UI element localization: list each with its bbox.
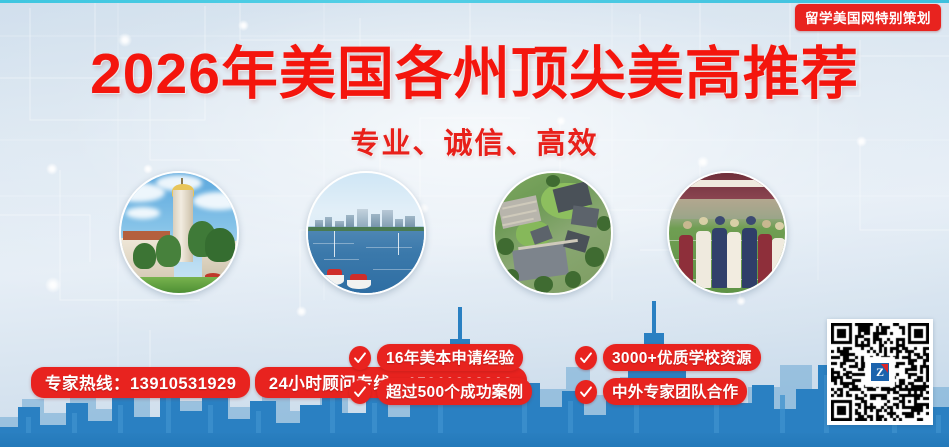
- checkmark-icon: [575, 346, 597, 370]
- feature-item: 3000+优质学校资源: [575, 344, 761, 371]
- photo-aerial-campus-view[interactable]: [493, 171, 613, 295]
- photo-gallery: [0, 171, 949, 297]
- top-accent-rule: [0, 0, 949, 3]
- checkmark-icon: [575, 380, 597, 404]
- bottom-info-row: 专家热线：13910531929 24小时顾问专线：15011066813 16…: [0, 327, 949, 437]
- feature-label: 中外专家团队合作: [603, 378, 747, 405]
- special-feature-badge: 留学美国网特别策划: [795, 4, 941, 31]
- feature-item: 中外专家团队合作: [575, 378, 761, 405]
- feature-column-a: 16年美本申请经验 超过500个成功案例: [349, 344, 532, 405]
- feature-label: 超过500个成功案例: [377, 378, 532, 405]
- qr-center-logo: Z: [868, 360, 892, 384]
- logo-letter: Z: [876, 366, 884, 378]
- page-title: 2026年美国各州顶尖美高推荐: [0, 46, 949, 103]
- checkmark-icon: [349, 380, 371, 404]
- feature-label: 3000+优质学校资源: [603, 344, 761, 371]
- promo-banner: 留学美国网特别策划 2026年美国各州顶尖美高推荐 专业、诚信、高效: [0, 0, 949, 447]
- qr-code[interactable]: Z: [827, 319, 933, 425]
- feature-label: 16年美本申请经验: [377, 344, 523, 371]
- feature-item: 超过500个成功案例: [349, 378, 532, 405]
- photo-campus-bell-tower[interactable]: [119, 171, 239, 295]
- checkmark-icon: [349, 346, 371, 370]
- page-subtitle: 专业、诚信、高效: [0, 120, 949, 162]
- expert-hotline[interactable]: 专家热线：13910531929: [31, 367, 250, 398]
- photo-football-game[interactable]: [667, 171, 787, 295]
- photo-lakefront-city-skyline[interactable]: [306, 171, 426, 295]
- feature-column-b: 3000+优质学校资源 中外专家团队合作: [575, 344, 761, 405]
- feature-item: 16年美本申请经验: [349, 344, 532, 371]
